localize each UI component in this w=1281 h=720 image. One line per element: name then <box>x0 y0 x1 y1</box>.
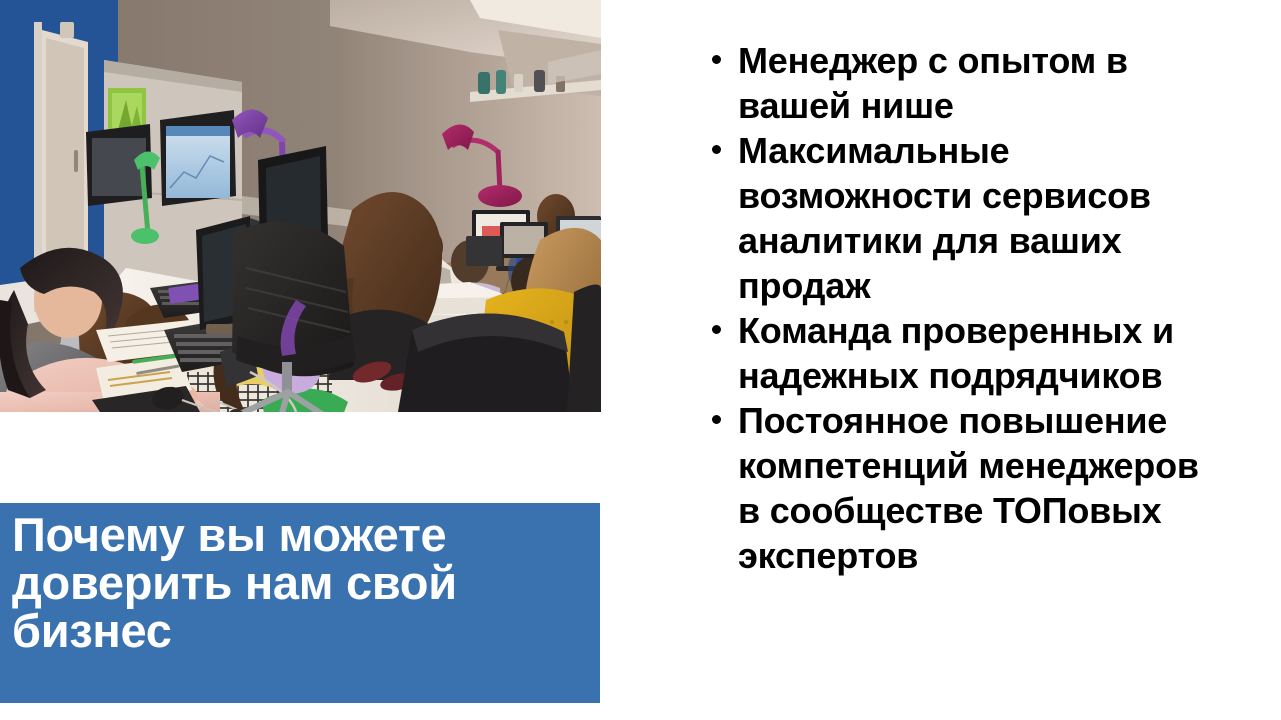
bullet-dot-icon <box>712 55 721 64</box>
list-item: Постоянное повышение компетенций менедже… <box>700 398 1220 578</box>
office-photo-image <box>0 0 601 412</box>
slide-root: Почему вы можете доверить нам свой бизне… <box>0 0 1281 720</box>
list-item: Максимальные возможности сервисов аналит… <box>700 128 1220 308</box>
list-item: Менеджер с опытом в вашей нише <box>700 38 1220 128</box>
benefits-list: Менеджер с опытом в вашей нише Максималь… <box>700 38 1220 578</box>
list-item-label: Максимальные возможности сервисов аналит… <box>738 130 1151 306</box>
bullet-dot-icon <box>712 325 721 334</box>
list-item: Команда проверенных и надежных подрядчик… <box>700 308 1220 398</box>
list-item-label: Постоянное повышение компетенций менедже… <box>738 400 1199 576</box>
list-item-label: Команда проверенных и надежных подрядчик… <box>738 310 1174 396</box>
office-photo <box>0 0 601 412</box>
page-title: Почему вы можете доверить нам свой бизне… <box>12 511 592 655</box>
bullet-dot-icon <box>712 145 721 154</box>
list-item-label: Менеджер с опытом в вашей нише <box>738 40 1128 126</box>
slide-title-band: Почему вы можете доверить нам свой бизне… <box>0 503 600 703</box>
bullet-dot-icon <box>712 415 721 424</box>
